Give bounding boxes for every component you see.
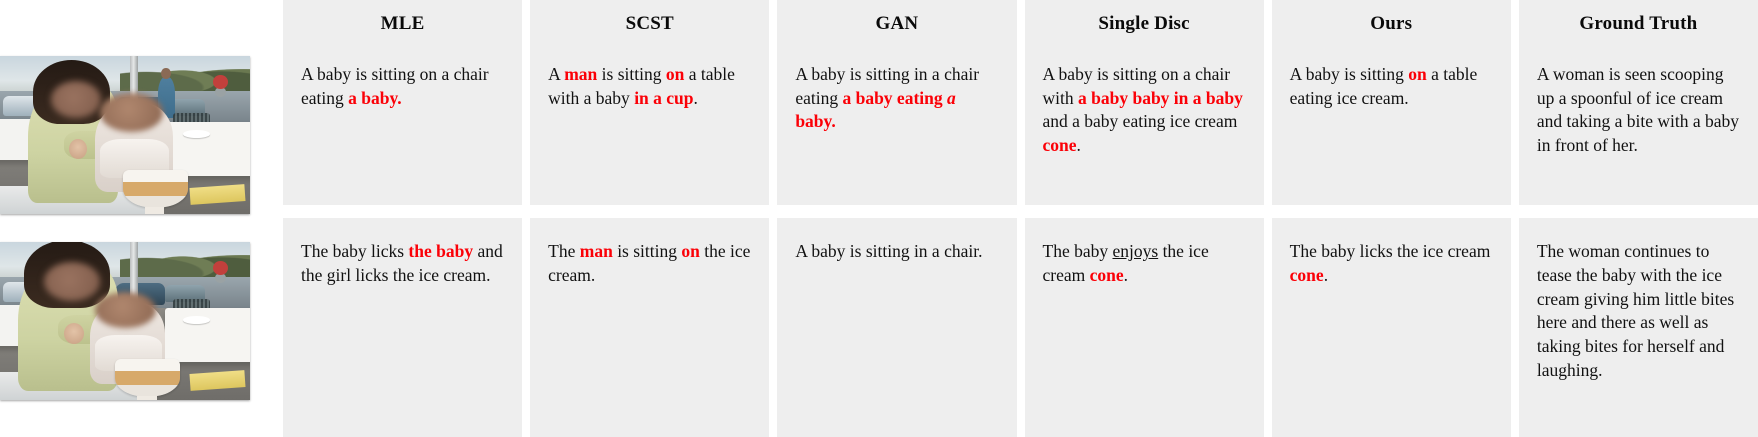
- caption-run-normal: .: [694, 88, 698, 108]
- caption-run-normal: .: [1124, 265, 1128, 285]
- qualitative-comparison-figure: MLE A baby is sitting on a chair eating …: [0, 0, 1758, 424]
- column-header-gan: GAN: [795, 14, 998, 35]
- cell-mle-row-2: The baby licks the baby and the girl lic…: [283, 218, 522, 437]
- caption-run-highlight: on: [681, 241, 699, 261]
- napkin: [189, 184, 245, 205]
- cell-single-disc-row-1: Single Disc A baby is sitting on a chair…: [1025, 0, 1264, 205]
- caption-run-highlight-italic: a: [947, 88, 956, 108]
- woman-hand: [69, 139, 87, 159]
- caption-run-highlight: on: [1408, 64, 1426, 84]
- video-frame-column: [0, 0, 255, 424]
- column-header-scst: SCST: [548, 14, 751, 35]
- column-header-ours: Ours: [1290, 14, 1493, 35]
- caption-run-normal: The baby: [1043, 241, 1113, 261]
- caption-run-normal: The baby licks: [301, 241, 408, 261]
- cell-single-disc-row-2: The baby enjoys the ice cream cone.: [1025, 218, 1264, 437]
- caption-mle-row-2: The baby licks the baby and the girl lic…: [301, 240, 504, 288]
- caption-ground-truth-row-2: The woman continues to tease the baby wi…: [1537, 240, 1740, 383]
- caption-run-highlight: on: [666, 64, 684, 84]
- caption-scst-row-2: The man is sitting on the ice cream.: [548, 240, 751, 288]
- column-header-ground-truth: Ground Truth: [1537, 14, 1740, 35]
- caption-mle-row-1: A baby is sitting on a chair eating a ba…: [301, 63, 504, 111]
- column-header-mle: MLE: [301, 14, 504, 35]
- caption-run-normal: The: [548, 241, 580, 261]
- caption-ours-row-1: A baby is sitting on a table eating ice …: [1290, 63, 1493, 111]
- caption-run-highlight: a baby baby in a baby: [1078, 88, 1243, 108]
- caption-grid: MLE A baby is sitting on a chair eating …: [255, 0, 1758, 424]
- caption-run-underline: enjoys: [1112, 241, 1158, 261]
- caption-run-highlight: man: [580, 241, 613, 261]
- video-frame-row-1: [0, 56, 250, 214]
- caption-run-normal: is sitting: [597, 64, 666, 84]
- caption-run-highlight: cone: [1043, 135, 1077, 155]
- cell-gan-row-1: GAN A baby is sitting in a chair eating …: [777, 0, 1016, 205]
- column-header-single-disc: Single Disc: [1043, 14, 1246, 35]
- caption-run-normal: and a baby eating ice cream: [1043, 111, 1238, 131]
- caption-run-normal: The baby licks the ice cream: [1290, 241, 1491, 261]
- ice-cream-dish: [115, 359, 180, 397]
- caption-gan-row-1: A baby is sitting in a chair eating a ba…: [795, 63, 998, 134]
- baby-face-blurred: [100, 93, 164, 132]
- caption-run-highlight: cone: [1290, 265, 1324, 285]
- caption-run-normal: A baby is sitting in a chair.: [795, 241, 982, 261]
- woman-hand: [64, 323, 84, 344]
- cell-mle-row-1: MLE A baby is sitting on a chair eating …: [283, 0, 522, 205]
- caption-ground-truth-row-1: A woman is seen scooping up a spoonful o…: [1537, 63, 1740, 158]
- background-table: [165, 308, 250, 362]
- caption-ours-row-2: The baby licks the ice cream cone.: [1290, 240, 1493, 288]
- street-sign-icon: [213, 261, 228, 275]
- cell-scst-row-2: The man is sitting on the ice cream.: [530, 218, 769, 437]
- caption-run-highlight: man: [564, 64, 597, 84]
- cell-ground-truth-row-2: The woman continues to tease the baby wi…: [1519, 218, 1758, 437]
- caption-run-normal: The woman continues to tease the baby wi…: [1537, 241, 1734, 380]
- cell-gan-row-2: A baby is sitting in a chair.: [777, 218, 1016, 437]
- caption-run-highlight: in a cup: [634, 88, 693, 108]
- caption-run-normal: A baby is sitting: [1290, 64, 1409, 84]
- caption-gan-row-2: A baby is sitting in a chair.: [795, 240, 998, 264]
- frame-2-scene: [0, 242, 250, 400]
- street-sign-icon: [213, 75, 228, 89]
- caption-run-highlight: a baby eating: [842, 88, 947, 108]
- background-table: [165, 122, 250, 176]
- cell-scst-row-1: SCST A man is sitting on a table with a …: [530, 0, 769, 205]
- caption-run-normal: A woman is seen scooping up a spoonful o…: [1537, 64, 1739, 155]
- napkin: [189, 370, 245, 391]
- caption-single-disc-row-2: The baby enjoys the ice cream cone.: [1043, 240, 1246, 288]
- caption-single-disc-row-1: A baby is sitting on a chair with a baby…: [1043, 63, 1246, 158]
- caption-run-normal: is sitting: [613, 241, 682, 261]
- cell-ours-row-1: Ours A baby is sitting on a table eating…: [1272, 0, 1511, 205]
- ice-cream-dish: [123, 170, 188, 208]
- cell-ground-truth-row-1: Ground Truth A woman is seen scooping up…: [1519, 0, 1758, 205]
- frame-1-scene: [0, 56, 250, 214]
- caption-run-highlight: the baby: [408, 241, 473, 261]
- caption-run-highlight: cone: [1090, 265, 1124, 285]
- woman-face-blurred: [51, 81, 101, 118]
- caption-run-normal: A: [548, 64, 564, 84]
- cell-ours-row-2: The baby licks the ice cream cone.: [1272, 218, 1511, 437]
- caption-run-highlight: a baby.: [348, 88, 402, 108]
- caption-run-normal: .: [1077, 135, 1081, 155]
- baby-face-blurred: [95, 292, 157, 328]
- caption-run-highlight: baby.: [795, 111, 835, 131]
- woman-face-blurred: [44, 262, 100, 301]
- caption-scst-row-1: A man is sitting on a table with a baby …: [548, 63, 751, 111]
- video-frame-row-2: [0, 242, 250, 400]
- caption-run-normal: .: [1324, 265, 1328, 285]
